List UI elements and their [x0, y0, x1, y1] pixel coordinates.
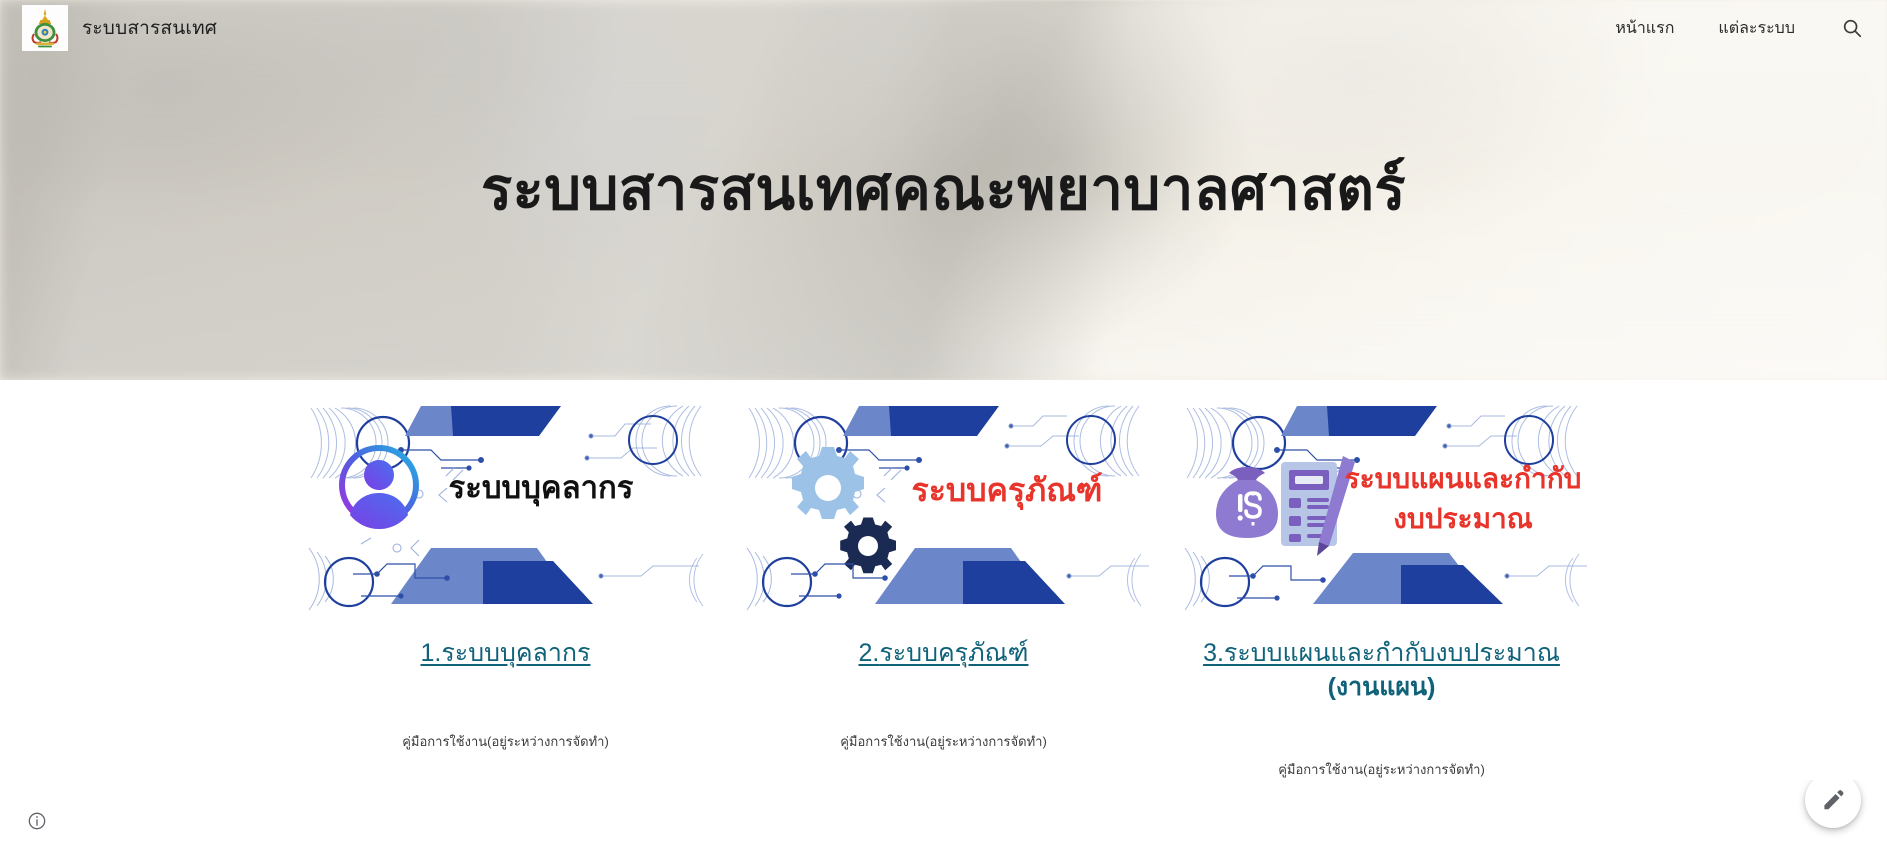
hero-title-container: ระบบสารสนเทศคณะพยาบาลศาสตร์ [0, 0, 1887, 380]
banner-title-budget: ระบบแผนและกำกับ [1344, 463, 1581, 494]
brand-title: ระบบสารสนเทศ [82, 13, 217, 43]
info-circle-icon[interactable] [22, 806, 52, 836]
page-root: ระบบสารสนเทศคณะพยาบาลศาสตร์ [0, 0, 1887, 848]
site-logo [22, 5, 68, 51]
card-link-budget-sub: (งานแผน) [1328, 673, 1436, 701]
card-link-personnel-label: ระบบบุคลากร [441, 639, 590, 667]
brand[interactable]: ระบบสารสนเทศ [0, 5, 217, 51]
nav-links: หน้าแรก แต่ละระบบ [1615, 15, 1887, 41]
banner-image-equipment[interactable]: ระบบครุภัณฑ์ [739, 398, 1149, 621]
pencil-edit-icon [1821, 788, 1845, 812]
manual-note-budget: คู่มือการใช้งาน(อยู่ระหว่างการจัดทำ) [1278, 759, 1485, 780]
hero-banner: ระบบสารสนเทศคณะพยาบาลศาสตร์ [0, 0, 1887, 380]
card-link-budget-number: 3. [1203, 639, 1224, 667]
card-link-equipment[interactable]: 2.ระบบครุภัณฑ์ [858, 637, 1028, 671]
edit-page-button[interactable] [1805, 772, 1861, 828]
nav-item-each-system[interactable]: แต่ละระบบ [1718, 16, 1795, 41]
card-link-personnel-text: 1. [421, 639, 442, 667]
top-navigation-bar: ระบบสารสนเทศ หน้าแรก แต่ละระบบ [0, 0, 1887, 56]
card-link-equipment-number: 2. [858, 639, 879, 667]
card-link-personnel[interactable]: 1.ระบบบุคลากร [421, 637, 591, 671]
systems-card-row: ระบบบุคลากร [0, 380, 1887, 780]
nav-item-home[interactable]: หน้าแรก [1615, 16, 1674, 41]
banner-image-budget[interactable]: ระบบแผนและกำกับ งบประมาณ [1177, 398, 1587, 621]
banner-title-budget-line2: งบประมาณ [1393, 503, 1532, 534]
card-link-budget-label: ระบบแผนและกำกับงบประมาณ [1224, 639, 1560, 667]
banner-image-personnel[interactable]: ระบบบุคลากร [301, 398, 711, 621]
manual-note-equipment: คู่มือการใช้งาน(อยู่ระหว่างการจัดทำ) [840, 731, 1047, 752]
system-card-personnel: ระบบบุคลากร [301, 398, 711, 780]
card-link-budget[interactable]: 3.ระบบแผนและกำกับงบประมาณ (งานแผน) [1203, 637, 1560, 705]
system-card-budget: ระบบแผนและกำกับ งบประมาณ [1177, 398, 1587, 780]
banner-title-personnel: ระบบบุคลากร [448, 470, 633, 507]
banner-title-equipment: ระบบครุภัณฑ์ [911, 472, 1102, 511]
system-card-equipment: ระบบครุภัณฑ์ [739, 398, 1149, 780]
manual-note-personnel: คู่มือการใช้งาน(อยู่ระหว่างการจัดทำ) [402, 731, 609, 752]
card-link-equipment-label: ระบบครุภัณฑ์ [879, 639, 1028, 667]
search-icon[interactable] [1839, 15, 1865, 41]
page-title: ระบบสารสนเทศคณะพยาบาลศาสตร์ [481, 157, 1406, 224]
